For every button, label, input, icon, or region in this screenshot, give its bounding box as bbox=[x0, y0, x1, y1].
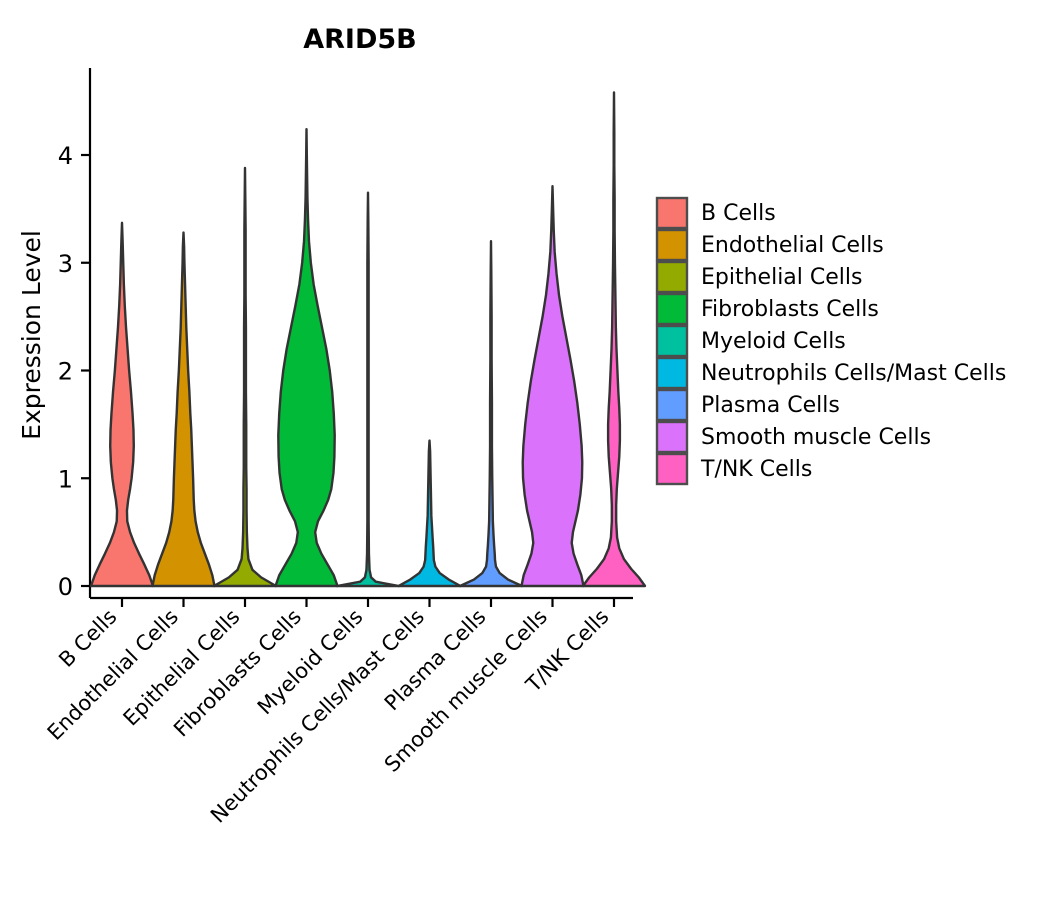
legend-swatch[interactable] bbox=[657, 198, 687, 228]
legend-swatch[interactable] bbox=[657, 262, 687, 292]
y-tick-label: 3 bbox=[58, 250, 73, 278]
legend-label[interactable]: Plasma Cells bbox=[701, 393, 840, 418]
violin-shape bbox=[276, 129, 338, 586]
x-tick-label: Myeloid Cells bbox=[253, 605, 368, 720]
legend-swatch[interactable] bbox=[657, 294, 687, 324]
plot-canvas: ARID5B Expression Level 01234 B CellsEnd… bbox=[0, 0, 1057, 900]
legend-label[interactable]: Fibroblasts Cells bbox=[701, 297, 879, 322]
legend: B CellsEndothelial CellsEpithelial Cells… bbox=[657, 198, 1006, 484]
violin-series-group bbox=[91, 93, 645, 587]
violin-shape bbox=[214, 168, 276, 586]
violin-shape bbox=[91, 223, 153, 586]
legend-label[interactable]: Endothelial Cells bbox=[701, 233, 884, 258]
legend-swatch[interactable] bbox=[657, 358, 687, 388]
violin-shape bbox=[460, 241, 522, 586]
y-tick-label: 1 bbox=[58, 465, 73, 493]
legend-label[interactable]: Neutrophils Cells/Mast Cells bbox=[701, 361, 1006, 386]
violin-plot-figure: ARID5B Expression Level 01234 B CellsEnd… bbox=[0, 0, 1057, 900]
legend-label[interactable]: T/NK Cells bbox=[700, 457, 812, 482]
violin-shape bbox=[522, 186, 584, 586]
violin-shape bbox=[153, 233, 215, 586]
legend-swatch[interactable] bbox=[657, 230, 687, 260]
y-axis-label: Expression Level bbox=[17, 230, 46, 440]
y-tick-label: 0 bbox=[58, 573, 73, 601]
violin-shape bbox=[337, 193, 399, 586]
y-axis-ticks: 01234 bbox=[58, 142, 90, 601]
y-tick-label: 4 bbox=[58, 142, 73, 170]
chart-title: ARID5B bbox=[303, 24, 417, 55]
legend-swatch[interactable] bbox=[657, 390, 687, 420]
violin-shape bbox=[399, 441, 461, 586]
y-tick-label: 2 bbox=[58, 358, 73, 386]
violin-shape bbox=[583, 93, 645, 587]
legend-swatch[interactable] bbox=[657, 454, 687, 484]
legend-swatch[interactable] bbox=[657, 422, 687, 452]
legend-label[interactable]: Myeloid Cells bbox=[701, 329, 846, 354]
legend-label[interactable]: B Cells bbox=[701, 201, 776, 226]
legend-label[interactable]: Smooth muscle Cells bbox=[701, 425, 931, 450]
legend-swatch[interactable] bbox=[657, 326, 687, 356]
x-axis-ticks: B CellsEndothelial CellsEpithelial Cells… bbox=[43, 598, 614, 828]
legend-label[interactable]: Epithelial Cells bbox=[701, 265, 862, 290]
